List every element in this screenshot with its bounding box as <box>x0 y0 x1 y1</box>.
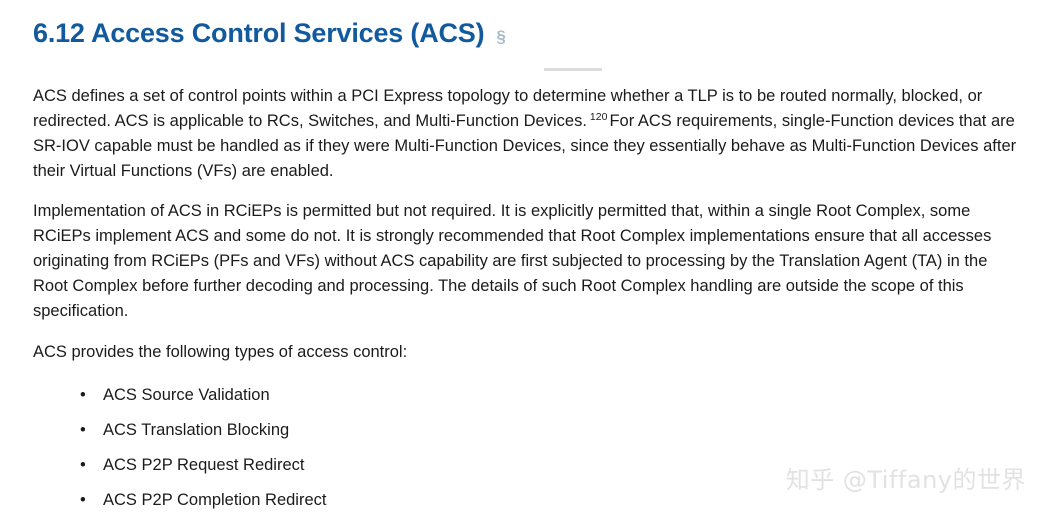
bullet-icon: • <box>80 483 86 518</box>
list-item: • ACS Source Validation <box>33 378 733 413</box>
bullet-icon: • <box>80 413 86 448</box>
section-heading-row: 6.12 Access Control Services (ACS) § <box>33 0 1023 54</box>
paragraph-acs-definition: ACS defines a set of control points with… <box>33 84 1023 184</box>
acs-types-list: • ACS Source Validation • ACS Translatio… <box>33 378 733 518</box>
list-item-label: ACS P2P Request Redirect <box>103 456 304 474</box>
list-item: • ACS P2P Request Redirect <box>33 448 733 483</box>
page-title: 6.12 Access Control Services (ACS) <box>33 16 484 50</box>
list-item: • ACS Translation Blocking <box>33 413 733 448</box>
list-item-label: ACS Source Validation <box>103 386 270 404</box>
heading-divider <box>544 68 602 71</box>
list-item-label: ACS Translation Blocking <box>103 421 289 439</box>
bullet-icon: • <box>80 378 86 413</box>
list-item-label: ACS P2P Completion Redirect <box>103 491 326 509</box>
paragraph-list-intro: ACS provides the following types of acce… <box>33 340 1023 365</box>
section-anchor-icon[interactable]: § <box>496 20 505 54</box>
footnote-reference-120[interactable]: 120 <box>587 111 610 123</box>
bullet-icon: • <box>80 448 86 483</box>
list-item: • ACS P2P Completion Redirect <box>33 483 733 518</box>
paragraph-rciep-implementation: Implementation of ACS in RCiEPs is permi… <box>33 199 1023 324</box>
watermark: 知乎 @Tiffany的世界 <box>786 460 1026 495</box>
document-content: 6.12 Access Control Services (ACS) § ACS… <box>33 0 1023 54</box>
document-page: 6.12 Access Control Services (ACS) § ACS… <box>0 0 1044 528</box>
